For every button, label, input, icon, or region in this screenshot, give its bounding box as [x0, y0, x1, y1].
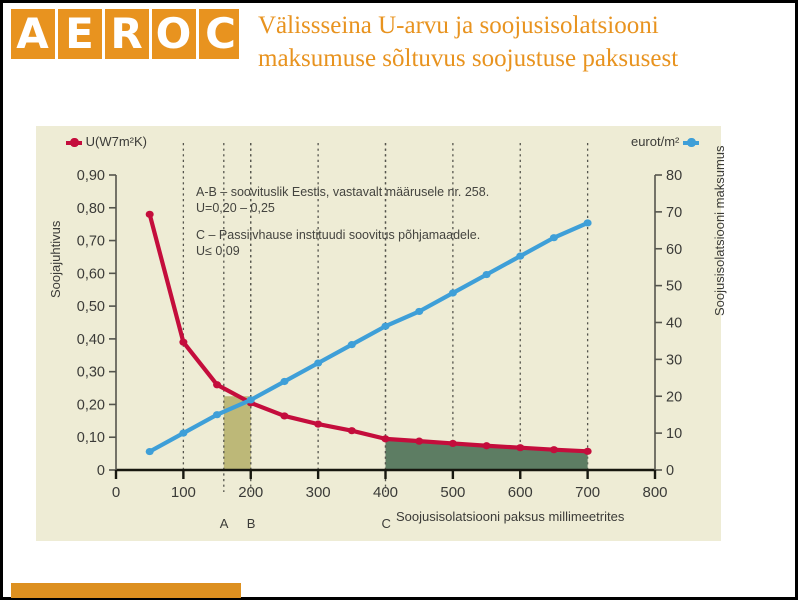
- data-point: [584, 219, 592, 226]
- y-right-tick-label: 10: [666, 426, 682, 442]
- page-title-line1: Välissseina U-arvu ja soojusisolatsiooni: [258, 9, 778, 42]
- annotation-block-ab: A-B – soovituslik Eestis, vastavalt määr…: [196, 184, 489, 216]
- y-left-tick-label: 0,10: [77, 430, 105, 446]
- annotation-c-line1: C – Passiivhause instituudi soovitus põh…: [196, 227, 480, 243]
- data-point: [584, 448, 592, 455]
- y-right-tick-label: 60: [666, 242, 682, 258]
- data-point: [449, 289, 457, 296]
- y-left-tick-label: 0,70: [77, 234, 105, 250]
- footer-accent-bar: [11, 583, 241, 598]
- data-point: [516, 253, 524, 260]
- data-point: [213, 381, 221, 388]
- data-point: [382, 323, 390, 330]
- marker-label-b: B: [247, 516, 256, 531]
- annotation-ab-line1: A-B – soovituslik Eestis, vastavalt määr…: [196, 184, 489, 200]
- data-point: [483, 271, 491, 278]
- logo-letter-c: C: [199, 9, 241, 59]
- data-point: [348, 341, 356, 348]
- annotation-ab-line2: U=0,20 – 0,25: [196, 200, 489, 216]
- x-tick-label: 500: [440, 484, 465, 501]
- data-point: [382, 435, 390, 442]
- aeroc-logo: A E R O C: [11, 9, 239, 59]
- data-point: [213, 411, 221, 418]
- y-right-tick-label: 30: [666, 352, 682, 368]
- logo-letter-r: R: [105, 9, 147, 59]
- logo-letter-e: E: [58, 9, 100, 59]
- chart-panel: U(W7m²K) eurot/m² 00,100,200,300,400,500…: [36, 126, 721, 541]
- y-left-tick-label: 0,60: [77, 266, 105, 282]
- data-point: [348, 427, 356, 434]
- x-axis-title: Soojusisolatsiooni paksus millimeetrites: [396, 509, 624, 524]
- data-point: [179, 430, 187, 437]
- y-axis-left-title: Soojajuhtivus: [48, 221, 63, 298]
- data-point: [449, 440, 457, 447]
- data-point: [550, 234, 558, 241]
- x-tick-label: 800: [642, 484, 667, 501]
- y-left-tick-label: 0,50: [77, 299, 105, 315]
- data-point: [280, 378, 288, 385]
- data-point: [146, 448, 154, 455]
- slide-header: A E R O C Välissseina U-arvu ja soojusis…: [3, 3, 795, 107]
- data-point: [314, 421, 322, 428]
- x-tick-label: 700: [575, 484, 600, 501]
- y-right-tick-label: 20: [666, 389, 682, 405]
- y-left-tick-label: 0,30: [77, 365, 105, 381]
- y-right-tick-label: 50: [666, 279, 682, 295]
- y-right-tick-label: 80: [666, 168, 682, 184]
- data-point: [550, 446, 558, 453]
- annotation-block-c: C – Passiivhause instituudi soovitus põh…: [196, 227, 480, 259]
- x-tick-label: 600: [508, 484, 533, 501]
- x-tick-label: 400: [373, 484, 398, 501]
- annotation-c-line2: U≤ 0,09: [196, 243, 480, 259]
- y-axis-right-title: Soojusisolatsiooni maksumus: [712, 145, 727, 316]
- x-tick-label: 300: [306, 484, 331, 501]
- data-point: [247, 396, 255, 403]
- slide-root: A E R O C Välissseina U-arvu ja soojusis…: [0, 0, 798, 600]
- y-right-tick-label: 70: [666, 205, 682, 221]
- x-tick-label: 0: [112, 484, 120, 501]
- y-left-tick-label: 0,40: [77, 332, 105, 348]
- y-right-tick-label: 40: [666, 316, 682, 332]
- data-point: [483, 442, 491, 449]
- logo-letter-a: A: [11, 9, 53, 59]
- y-left-tick-label: 0,20: [77, 397, 105, 413]
- data-point: [179, 339, 187, 346]
- page-title-line2: maksumuse sõltuvus soojustuse paksusest: [258, 42, 778, 75]
- y-right-tick-label: 0: [666, 463, 674, 479]
- y-left-tick-label: 0,90: [77, 168, 105, 184]
- data-point: [415, 438, 423, 445]
- data-point: [314, 359, 322, 366]
- data-point: [280, 412, 288, 419]
- logo-letter-o: O: [152, 9, 194, 59]
- x-tick-label: 200: [238, 484, 263, 501]
- data-point: [516, 444, 524, 451]
- marker-label-c: C: [382, 516, 391, 531]
- marker-label-a: A: [220, 516, 229, 531]
- data-point: [146, 211, 154, 218]
- y-left-tick-label: 0: [97, 463, 105, 479]
- page-title: Välissseina U-arvu ja soojusisolatsiooni…: [258, 9, 778, 75]
- data-point: [415, 308, 423, 315]
- x-tick-label: 100: [171, 484, 196, 501]
- y-left-tick-label: 0,80: [77, 201, 105, 217]
